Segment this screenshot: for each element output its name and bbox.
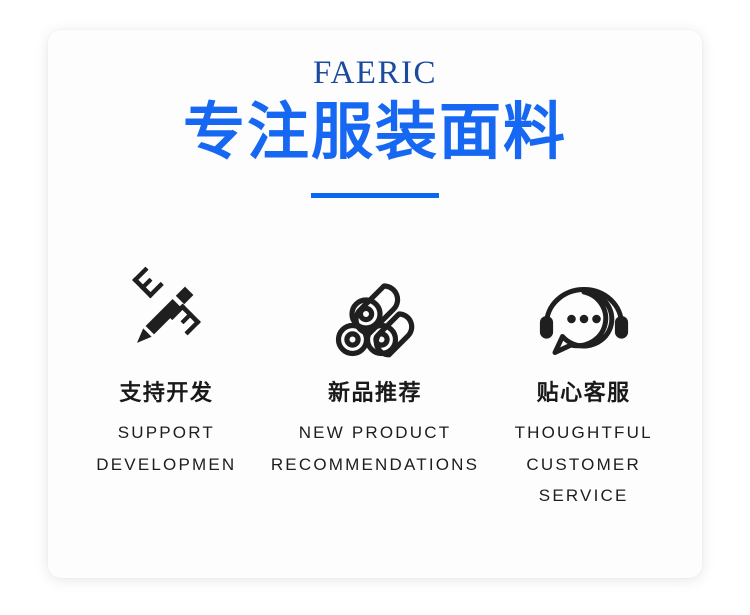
feature-title-en: THOUGHTFUL CUSTOMER SERVICE	[494, 417, 674, 511]
header-divider	[311, 193, 439, 198]
feature-title-en: SUPPORT DEVELOPMEN	[74, 417, 259, 480]
feature-list: 支持开发 SUPPORT DEVELOPMEN	[48, 262, 702, 512]
brand-name: FAERIC	[48, 56, 702, 91]
banner-header: FAERIC 专注服装面料	[48, 30, 702, 198]
feature-item-new-products: 新品推荐 NEW PRODUCT RECOMMENDATIONS	[271, 262, 480, 480]
pencil-design-icon	[118, 262, 214, 366]
feature-title-cn: 支持开发	[119, 380, 213, 406]
fabric-rolls-icon	[327, 262, 423, 366]
feature-title-cn: 新品推荐	[328, 380, 422, 406]
feature-title-en: NEW PRODUCT RECOMMENDATIONS	[271, 417, 480, 480]
page-title: 专注服装面料	[48, 100, 702, 167]
headset-chat-support-icon	[534, 262, 634, 366]
feature-item-support-development: 支持开发 SUPPORT DEVELOPMEN	[62, 262, 271, 480]
feature-item-customer-service: 贴心客服 THOUGHTFUL CUSTOMER SERVICE	[479, 262, 688, 512]
promo-banner-card: FAERIC 专注服装面料	[48, 30, 702, 578]
feature-title-cn: 贴心客服	[537, 380, 631, 406]
